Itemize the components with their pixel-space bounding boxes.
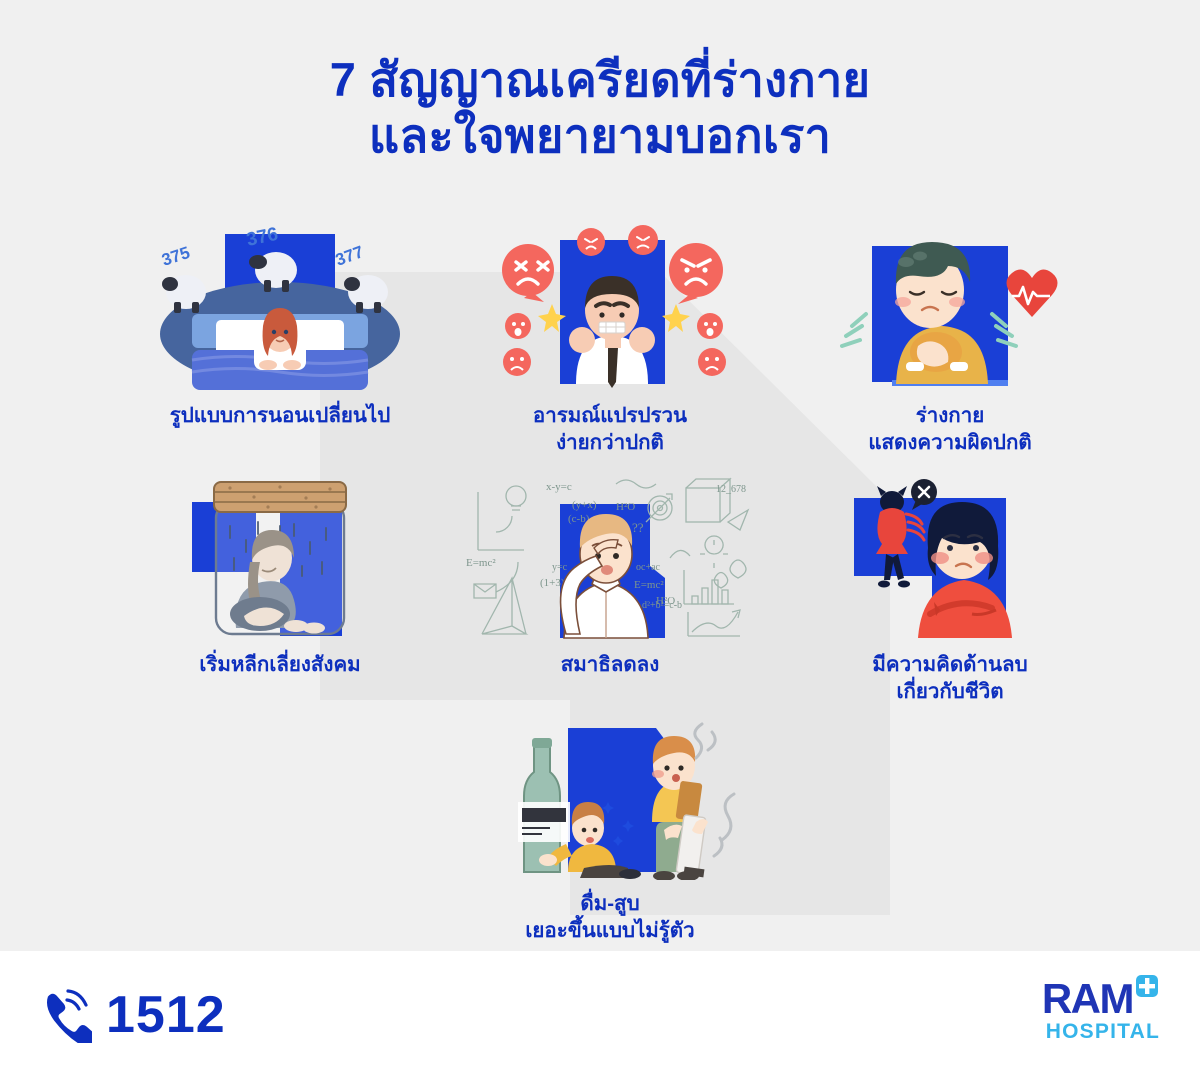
illustration-drink-smoke xyxy=(460,710,760,880)
caption-social-withdrawal-line1: เริ่มหลีกเลี่ยงสังคม xyxy=(130,651,430,678)
logo-subtitle: HOSPITAL xyxy=(1042,1021,1160,1042)
logo-wordmark: RAM xyxy=(1042,979,1133,1019)
caption-mood-swings-line1: อารมณ์แปรปรวน xyxy=(460,402,760,429)
caption-drinking-smoking-line2: เยอะขึ้นแบบไม่รู้ตัว xyxy=(460,917,760,944)
formula-h2o: H²O xyxy=(616,501,635,513)
page-title: 7 สัญญาณเครียดที่ร่างกาย และใจพยายามบอกเ… xyxy=(0,52,1200,164)
illustration-concentration: x-y=c E=mc² (y+x) (c-b) H²O 12_678 (1+3)… xyxy=(460,466,760,641)
angry-emoji-icon xyxy=(502,244,554,302)
illustration-mood xyxy=(460,222,760,392)
formula-y-plus-x: (y+x) xyxy=(572,499,597,511)
svg-text:??: ?? xyxy=(632,520,644,535)
footer: 1512 RAM HOSPITAL xyxy=(0,951,1200,1071)
formula-1-3: (1+3) xyxy=(540,577,565,589)
hotline-number: 1512 xyxy=(106,989,226,1041)
card-low-concentration[interactable]: x-y=c E=mc² (y+x) (c-b) H²O 12_678 (1+3)… xyxy=(460,466,760,678)
ram-hospital-logo: RAM HOSPITAL xyxy=(1042,979,1160,1042)
formula-emc2: E=mc² xyxy=(466,557,496,569)
heartbeat-heart-icon xyxy=(1007,269,1058,317)
caption-drinking-smoking-line1: ดื่ม-สูบ xyxy=(460,890,760,917)
illustration-sleep: 375 376 377 xyxy=(130,222,430,392)
formula-y-c: y=c xyxy=(552,562,568,573)
caption-body-symptoms-line1: ร่างกาย xyxy=(790,402,1110,429)
angry-emoji-icon xyxy=(503,348,531,376)
caption-negative-thoughts-line2: เกี่ยวกับชีวิต xyxy=(790,678,1110,705)
angry-emoji-icon xyxy=(698,348,726,376)
formula-x-y-c: x-y=c xyxy=(546,481,572,493)
illustration-body xyxy=(790,222,1110,392)
formula-h2o-alt: H²O xyxy=(656,595,675,607)
title-line-1: 7 สัญญาณเครียดที่ร่างกาย xyxy=(0,52,1200,108)
caption-sleep-pattern-line1: รูปแบบการนอนเปลี่ยนไป xyxy=(130,402,430,429)
caption-negative-thoughts-line1: มีความคิดด้านลบ xyxy=(790,651,1110,678)
title-line-2: และใจพยายามบอกเรา xyxy=(0,108,1200,164)
hotline-block[interactable]: 1512 xyxy=(40,987,226,1043)
illustration-negative xyxy=(790,466,1110,641)
formula-emc2-alt: E=mc² xyxy=(634,579,664,591)
illustration-jar xyxy=(130,466,430,641)
caption-body-symptoms-line2: แสดงความผิดปกติ xyxy=(790,429,1110,456)
card-mood-swings[interactable]: อารมณ์แปรปรวน ง่ายกว่าปกติ xyxy=(460,222,760,456)
card-sleep-pattern[interactable]: 375 376 377 รูปแบบการนอนเปลี่ยนไป xyxy=(130,222,430,429)
card-body-symptoms[interactable]: ร่างกาย แสดงความผิดปกติ xyxy=(790,222,1110,456)
sheep-count-375: 375 xyxy=(159,243,192,270)
sheep-count-377: 377 xyxy=(333,242,366,270)
phone-ringing-icon xyxy=(40,987,92,1043)
angry-emoji-icon xyxy=(669,243,723,304)
card-social-withdrawal[interactable]: เริ่มหลีกเลี่ยงสังคม xyxy=(130,466,430,678)
formula-number: 12_678 xyxy=(716,484,746,495)
formula-oc-ac: oc+ac xyxy=(636,562,661,573)
card-drinking-smoking[interactable]: ดื่ม-สูบ เยอะขึ้นแบบไม่รู้ตัว xyxy=(460,710,760,944)
caption-low-concentration-line1: สมาธิลดลง xyxy=(460,651,760,678)
medical-cross-icon xyxy=(1134,973,1160,999)
card-negative-thoughts[interactable]: มีความคิดด้านลบ เกี่ยวกับชีวิต xyxy=(790,466,1110,705)
caption-mood-swings-line2: ง่ายกว่าปกติ xyxy=(460,429,760,456)
